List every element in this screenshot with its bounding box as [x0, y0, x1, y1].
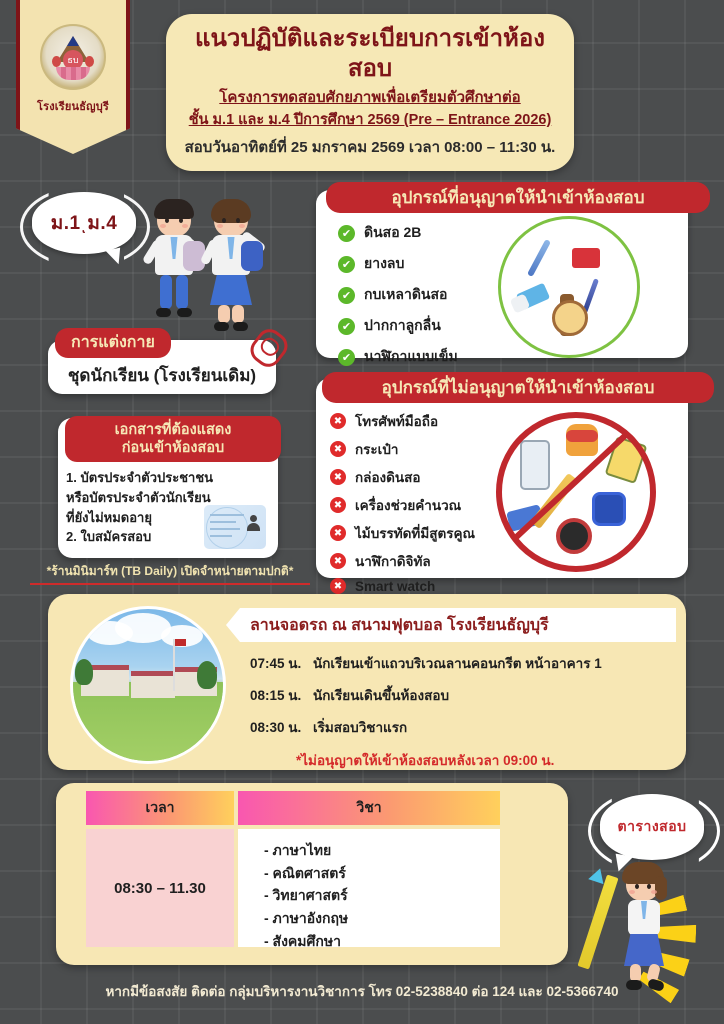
- cross-circle-icon: ✖: [330, 553, 346, 569]
- list-item: ✔ยางลบ: [338, 253, 458, 275]
- students-illustration: [140, 196, 270, 336]
- thai-flag-icon: [175, 639, 186, 646]
- poster-exam-date: สอบวันอาทิตย์ที่ 25 มกราคม 2569 เวลา 08:…: [180, 135, 560, 159]
- cross-circle-icon: ✖: [330, 497, 346, 513]
- poster-grade-year: ชั้น ม.1 และ ม.4 ปีการศึกษา 2569 (Pre – …: [180, 110, 560, 130]
- allowed-item-label: ดินสอ 2B: [364, 222, 421, 244]
- prohibited-items-list: ✖โทรศัพท์มือถือ ✖กระเป๋า ✖กล่องดินสอ ✖เค…: [330, 410, 475, 600]
- subject-item: - วิทยาศาสตร์: [264, 884, 500, 907]
- allowed-items-list: ✔ดินสอ 2B ✔ยางลบ ✔กบเหลาดินสอ ✔ปากกาลูกล…: [338, 222, 458, 377]
- allowed-item-label: กบเหลาดินสอ: [364, 284, 447, 306]
- table-cell-time: 08:30 – 11.30: [86, 829, 234, 947]
- dress-code-heading: การแต่งกาย: [55, 328, 171, 358]
- analog-watch-icon: [552, 300, 588, 336]
- list-item: ✖นาฬิกาดิจิทัล: [330, 550, 475, 572]
- prohibited-item-label: ไม้บรรทัดที่มีสูตรคูณ: [355, 522, 475, 544]
- student-boy-figure: [146, 204, 202, 336]
- check-circle-icon: ✔: [338, 256, 355, 273]
- list-item: ✖เครื่องช่วยคำนวณ: [330, 494, 475, 516]
- poster-title: แนวปฏิบัติและระเบียบการเข้าห้องสอบ: [180, 24, 560, 84]
- grade-speech-bubble: ม.1ͺม.4: [32, 192, 136, 254]
- list-item: ✖Smart watch: [330, 578, 475, 594]
- prohibited-items-heading: อุปกรณ์ที่ไม่อนุญาตให้นำเข้าห้องสอบ: [322, 372, 714, 403]
- subject-item: - คณิตศาสตร์: [264, 862, 500, 885]
- prohibited-item-label: กระเป๋า: [355, 438, 398, 460]
- cross-circle-icon: ✖: [330, 441, 346, 457]
- sharpener-icon: [572, 248, 600, 268]
- prohibited-item-label: Smart watch: [355, 579, 435, 594]
- list-item: ✔ดินสอ 2B: [338, 222, 458, 244]
- schedule-detail: นักเรียนเดินขึ้นห้องสอบ: [305, 688, 449, 703]
- girl-with-pencil-illustration: [598, 868, 678, 998]
- subject-item: - สังคมศึกษา: [264, 930, 500, 953]
- school-seal-icon: ธบ: [40, 24, 106, 90]
- check-circle-icon: ✔: [338, 287, 355, 304]
- cross-circle-icon: ✖: [330, 413, 346, 429]
- schedule-time: 08:15 น.: [250, 688, 301, 703]
- cross-circle-icon: ✖: [330, 525, 346, 541]
- school-photo: [70, 606, 226, 764]
- table-cell-subjects: - ภาษาไทย - คณิตศาสตร์ - วิทยาศาสตร์ - ภ…: [238, 829, 500, 947]
- prohibited-item-label: กล่องดินสอ: [355, 466, 421, 488]
- cross-circle-icon: ✖: [330, 578, 346, 594]
- title-card: แนวปฏิบัติและระเบียบการเข้าห้องสอบ โครงก…: [166, 14, 574, 171]
- list-item: ✔กบเหลาดินสอ: [338, 284, 458, 306]
- prohibited-item-label: เครื่องช่วยคำนวณ: [355, 494, 461, 516]
- list-item: ✔ปากกาลูกลื่น: [338, 315, 458, 337]
- prohibited-circle: [496, 412, 656, 572]
- table-header-subject: วิชา: [238, 791, 500, 825]
- schedule-time: 07:45 น.: [250, 656, 301, 671]
- check-circle-icon: ✔: [338, 318, 355, 335]
- school-name-label: โรงเรียนธัญบุรี: [37, 97, 109, 115]
- subject-item: - ภาษาอังกฤษ: [264, 907, 500, 930]
- allowed-items-circle: [498, 216, 640, 358]
- subject-item: - ภาษาไทย: [264, 839, 500, 862]
- prohibited-item-label: นาฬิกาดิจิทัล: [355, 550, 431, 572]
- schedule-row: 08:30 น. เริ่มสอบวิชาแรก: [250, 716, 407, 738]
- check-circle-icon: ✔: [338, 349, 355, 366]
- documents-heading-line1: เอกสารที่ต้องแสดง: [73, 421, 273, 439]
- allowed-items-heading: อุปกรณ์ที่อนุญาตให้นำเข้าห้องสอบ: [326, 182, 710, 213]
- schedule-detail: เริ่มสอบวิชาแรก: [305, 720, 407, 735]
- cross-circle-icon: ✖: [330, 469, 346, 485]
- check-circle-icon: ✔: [338, 225, 355, 242]
- list-item: 1. บัตรประจำตัวประชาชน: [66, 468, 266, 488]
- parking-heading-banner: ลานจอดรถ ณ สนามฟุตบอล โรงเรียนธัญบุรี: [226, 608, 676, 642]
- minimart-note: *ร้านมินิมาร์ท (TB Daily) เปิดจำหน่ายตาม…: [30, 562, 310, 585]
- list-item: ✔นาฬิกาแบบเข็ม: [338, 346, 458, 368]
- prohibited-item-label: โทรศัพท์มือถือ: [355, 410, 438, 432]
- list-item: ✖กล่องดินสอ: [330, 466, 475, 488]
- documents-heading-line2: ก่อนเข้าห้องสอบ: [73, 439, 273, 457]
- giant-pencil-icon: [577, 874, 618, 969]
- dress-code-value: ชุดนักเรียน (โรงเรียนเดิม): [48, 362, 276, 389]
- table-header-time: เวลา: [86, 791, 234, 825]
- schedule-row: 08:15 น. นักเรียนเดินขึ้นห้องสอบ: [250, 684, 449, 706]
- schedule-warning: *ไม่อนุญาตให้เข้าห้องสอบหลังเวลา 09:00 น…: [296, 749, 554, 771]
- allowed-item-label: ปากกาลูกลื่น: [364, 315, 441, 337]
- list-item: ✖โทรศัพท์มือถือ: [330, 410, 475, 432]
- allowed-item-label: ยางลบ: [364, 253, 404, 275]
- timetable-speech-bubble: ตารางสอบ: [600, 794, 704, 860]
- poster-subtitle: โครงการทดสอบศักยภาพเพื่อเตรียมตัวศึกษาต่…: [180, 87, 560, 108]
- list-item: ✖ไม้บรรทัดที่มีสูตรคูณ: [330, 522, 475, 544]
- documents-heading: เอกสารที่ต้องแสดง ก่อนเข้าห้องสอบ: [65, 416, 281, 462]
- schedule-detail: นักเรียนเข้าแถวบริเวณลานคอนกรีต หน้าอาคา…: [305, 656, 602, 671]
- parking-heading: ลานจอดรถ ณ สนามฟุตบอล โรงเรียนธัญบุรี: [226, 613, 549, 638]
- id-card-icon: [204, 505, 266, 549]
- schedule-row: 07:45 น. นักเรียนเข้าแถวบริเวณลานคอนกรีต…: [250, 652, 602, 674]
- poster-root: ธบ โรงเรียนธัญบุรี แนวปฏิบัติและระเบียบก…: [0, 0, 724, 1024]
- student-girl-figure: [202, 204, 260, 336]
- school-banner: ธบ โรงเรียนธัญบุรี: [16, 0, 130, 154]
- schedule-time: 08:30 น.: [250, 720, 301, 735]
- list-item: ✖กระเป๋า: [330, 438, 475, 460]
- timetable-bubble-label: ตารางสอบ: [617, 816, 686, 838]
- grade-bubble-label: ม.1ͺม.4: [51, 208, 118, 238]
- allowed-item-label: นาฬิกาแบบเข็ม: [364, 346, 458, 368]
